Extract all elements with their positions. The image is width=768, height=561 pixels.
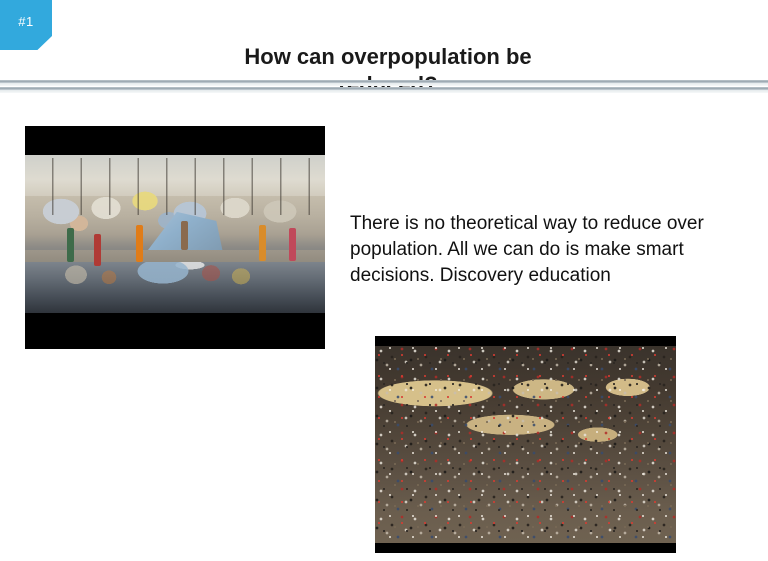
body-paragraph: There is no theoretical way to reduce ov… bbox=[350, 211, 706, 289]
refugee-camp-photo bbox=[25, 126, 325, 349]
camp-person bbox=[181, 221, 188, 249]
camp-water bbox=[25, 262, 325, 313]
divider-shadow bbox=[0, 83, 768, 86]
camp-person bbox=[94, 234, 101, 266]
camp-person bbox=[289, 228, 296, 261]
slide-number-badge: #1 bbox=[0, 0, 52, 50]
camp-water-reflection bbox=[25, 262, 325, 313]
divider-shadow bbox=[0, 90, 768, 93]
camp-person bbox=[259, 225, 266, 261]
camp-person bbox=[67, 228, 74, 263]
camp-poles bbox=[25, 158, 325, 215]
refugee-camp-photo-content bbox=[25, 155, 325, 313]
dense-crowd-photo-content bbox=[375, 346, 676, 543]
crowd-texture-secondary bbox=[375, 346, 676, 543]
header-divider-bottom bbox=[0, 87, 768, 95]
slide-number-label: #1 bbox=[18, 15, 33, 28]
dense-crowd-photo bbox=[375, 336, 676, 553]
camp-person bbox=[136, 225, 143, 263]
